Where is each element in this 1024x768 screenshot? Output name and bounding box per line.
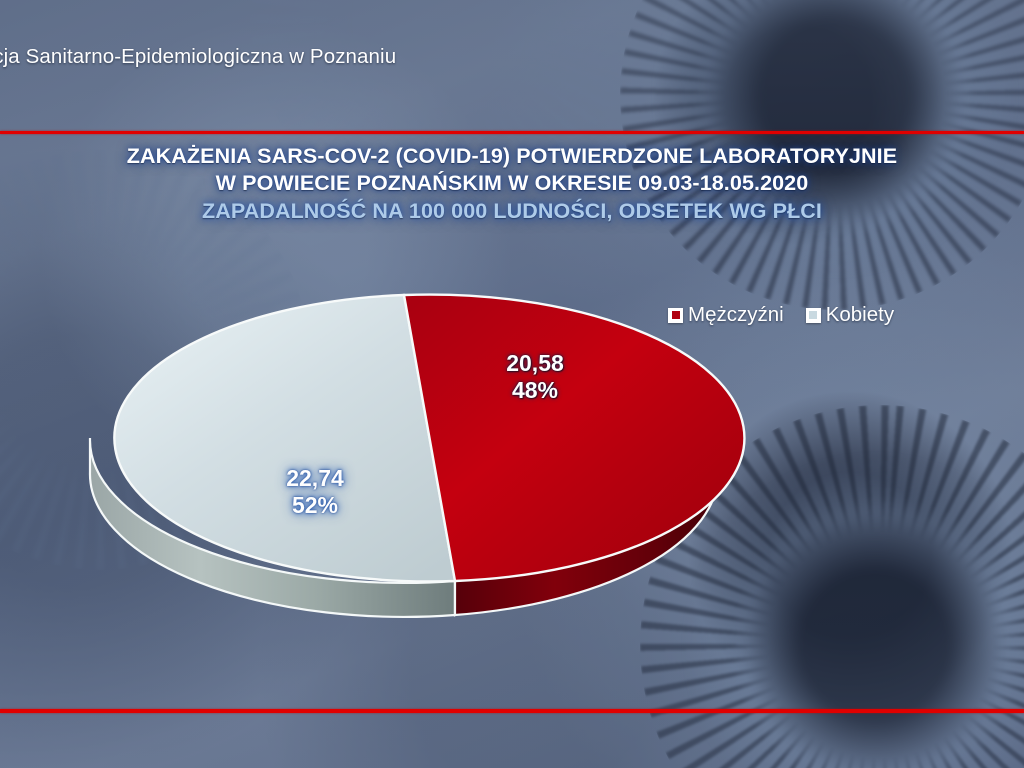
pie-chart-svg (70, 270, 750, 670)
data-label-women-percent: 52% (245, 492, 385, 519)
legend-item-women[interactable]: Kobiety (806, 303, 894, 327)
divider-bottom (0, 709, 1024, 713)
chart-title: ZAKAŻENIA SARS-COV-2 (COVID-19) POTWIERD… (0, 143, 1024, 225)
divider-top (0, 131, 1024, 134)
organization-header: wa Stacja Sanitarno-Epidemiologiczna w P… (0, 45, 396, 69)
chart-title-line-3: ZAPADALNOŚĆ NA 100 000 LUDNOŚCI, ODSETEK… (0, 198, 1024, 225)
legend-swatch-women-icon (806, 308, 821, 323)
data-label-women-value: 22,74 (245, 465, 385, 492)
data-label-men-value: 20,58 (470, 350, 600, 377)
pie-chart (70, 270, 750, 670)
data-label-men: 20,58 48% (470, 350, 600, 403)
data-label-men-percent: 48% (470, 377, 600, 404)
legend-label-women: Kobiety (826, 303, 894, 327)
data-label-women: 22,74 52% (245, 465, 385, 518)
chart-title-line-2: W POWIECIE POZNAŃSKIM W OKRESIE 09.03-18… (0, 170, 1024, 197)
slide-canvas: wa Stacja Sanitarno-Epidemiologiczna w P… (0, 0, 1024, 768)
pie-slice-men-top (404, 295, 744, 581)
chart-title-line-1: ZAKAŻENIA SARS-COV-2 (COVID-19) POTWIERD… (0, 143, 1024, 170)
